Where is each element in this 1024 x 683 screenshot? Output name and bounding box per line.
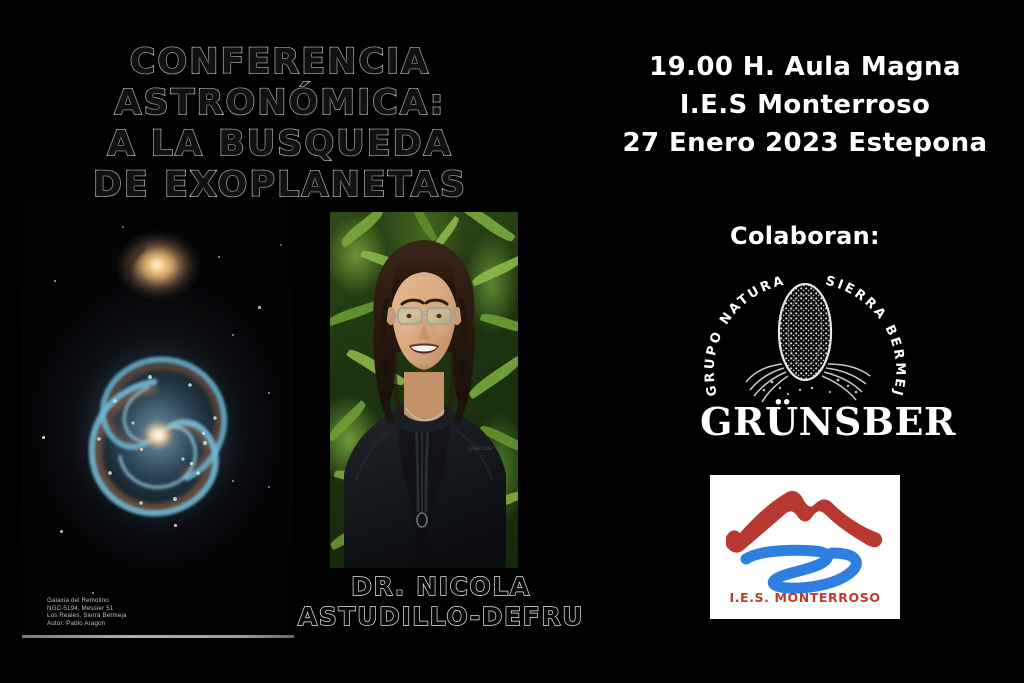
pinecone-emblem — [746, 284, 870, 402]
event-date-city: 27 Enero 2023 Estepona — [600, 124, 1010, 162]
spiral-galaxy — [55, 323, 261, 547]
companion-galaxy-svg — [103, 223, 213, 315]
title-line-3: A LA BUSQUEDA — [0, 124, 560, 165]
galaxy-credit: Galaxia del Remolino NGC-5194, Messier 5… — [47, 597, 127, 627]
collaborators-heading: Colaboran: — [600, 222, 1010, 250]
speaker-figure-svg: Quechua — [330, 212, 518, 568]
speaker-photo: Quechua — [330, 212, 518, 568]
event-institution: I.E.S Monterroso — [600, 86, 1010, 124]
galaxy-photo — [22, 196, 294, 638]
companion-galaxy — [103, 223, 213, 315]
monterroso-logo: I.E.S. MONTERROSO — [710, 475, 900, 619]
title-line-1: CONFERENCIA — [0, 42, 560, 83]
poster-root: CONFERENCIA ASTRONÓMICA: A LA BUSQUEDA D… — [0, 0, 1024, 683]
event-details: 19.00 H. Aula Magna I.E.S Monterroso 27 … — [600, 48, 1010, 162]
speaker-name-line-2: ASTUDILLO-DEFRU — [266, 602, 616, 632]
monterroso-emblem-svg — [710, 475, 900, 600]
grunsber-logo: GRUPO NATURALISTA SIERRA BERMEJA — [700, 272, 910, 444]
title-line-2: ASTRONÓMICA: — [0, 83, 560, 124]
event-time-venue: 19.00 H. Aula Magna — [600, 48, 1010, 86]
grunsber-wordmark: GRÜNSBER — [700, 402, 910, 442]
speaker-name: DR. NICOLA ASTUDILLO-DEFRU — [266, 572, 616, 632]
mountain-brushstroke — [726, 491, 882, 553]
speaker-name-line-1: DR. NICOLA — [266, 572, 616, 602]
poster-title: CONFERENCIA ASTRONÓMICA: A LA BUSQUEDA D… — [0, 42, 560, 206]
svg-text:Quechua: Quechua — [468, 446, 493, 452]
credit-line-4: Autor: Pablo Aragon — [47, 620, 127, 628]
credit-line-3: Los Reales, Sierra Bermeja — [47, 612, 127, 620]
spiral-galaxy-svg — [55, 323, 261, 547]
monterroso-wordmark: I.E.S. MONTERROSO — [710, 590, 900, 605]
grunsber-emblem-svg: GRUPO NATURALISTA SIERRA BERMEJA — [700, 272, 910, 412]
credit-line-1: Galaxia del Remolino — [47, 597, 127, 605]
river-brushstroke — [746, 550, 856, 588]
